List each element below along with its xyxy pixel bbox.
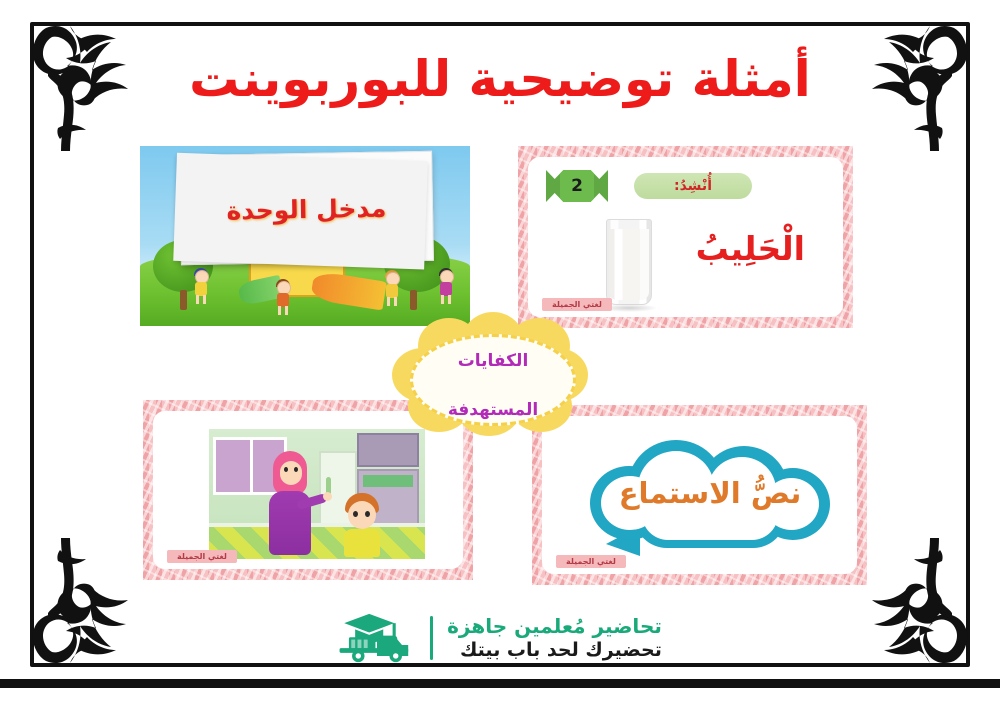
anshid-pill-label: أُنْشِدُ: (634, 173, 752, 199)
footer-text-block: تحاضير مُعلمين جاهزة تحضيرك لحد باب بيتك (447, 615, 662, 661)
footer-tag: لغتي الجميلة (542, 298, 612, 311)
kitchen-illustration (209, 429, 425, 559)
brand-line-2: تحضيرك لحد باب بيتك (447, 639, 662, 661)
page-title: أمثلة توضيحية للبوربوينت (0, 52, 1000, 107)
graduation-cap-truck-icon (338, 612, 416, 664)
flower-label-line1: الكفايات (448, 351, 538, 372)
center-flower-badge[interactable]: الكفايات المستهدفة (392, 318, 588, 436)
boy-figure (339, 493, 385, 557)
bottom-bar (0, 679, 1000, 688)
child-figure (384, 272, 400, 306)
footer-tag: لغتي الجميلة (556, 555, 626, 568)
cloud-label: نصُّ الاستماع (590, 476, 830, 510)
child-figure (193, 270, 209, 304)
paper-sheet: مدخل الوحدة (179, 151, 434, 265)
poster-page: أمثلة توضيحية للبوربوينت (0, 0, 1000, 707)
footer-brand: تحاضير مُعلمين جاهزة تحضيرك لحد باب بيتك (0, 612, 1000, 664)
brand-line-1: تحاضير مُعلمين جاهزة (447, 615, 662, 639)
footer-tag: لغتي الجميلة (167, 550, 237, 563)
slide-heading: مدخل الوحدة (180, 193, 431, 226)
slide-inner: نصُّ الاستماع لغتي الجميلة (542, 416, 857, 574)
vocabulary-word: الْحَلِيبُ (696, 229, 805, 268)
child-figure (438, 270, 454, 304)
slide-inner: 2 أُنْشِدُ: الْحَلِيبُ لغتي الجميلة (528, 157, 843, 317)
tree-trunk (180, 290, 187, 310)
lesson-number-badge: 2 (546, 170, 608, 202)
slide-milk-anshid[interactable]: 2 أُنْشِدُ: الْحَلِيبُ لغتي الجميلة (518, 146, 853, 328)
child-figure (275, 281, 291, 315)
badge-number: 2 (571, 176, 583, 196)
flower-label-line2: المستهدفة (448, 400, 538, 421)
milk-glass-icon (606, 219, 652, 305)
mother-figure (261, 451, 321, 555)
flower-core: الكفايات المستهدفة (410, 334, 576, 426)
brand-divider (430, 616, 433, 660)
tree-trunk (410, 290, 417, 310)
speech-cloud-icon: نصُّ الاستماع (590, 440, 830, 552)
slide-unit-entry[interactable]: مدخل الوحدة (140, 146, 470, 326)
cabinet-icon (357, 433, 419, 467)
